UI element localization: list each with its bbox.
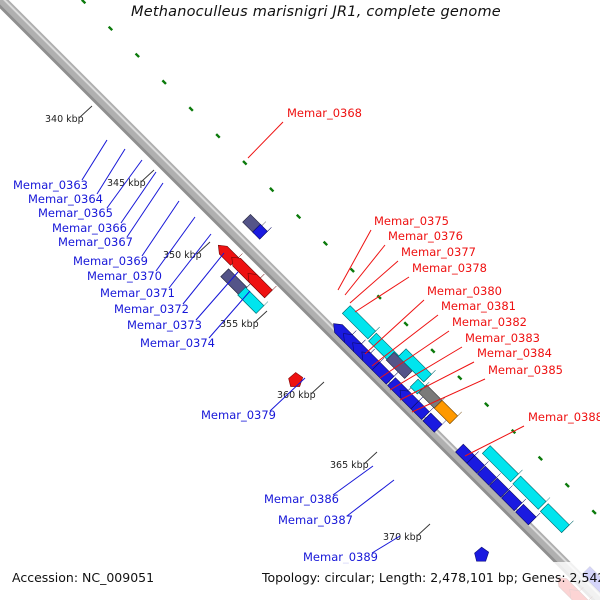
genome-map-viewer: 340 kbp345 kbp350 kbp355 kbp360 kbp365 k…	[0, 0, 600, 600]
gene-label-blue[interactable]: Memar_0363	[13, 178, 88, 192]
rna-marker	[431, 349, 435, 353]
rna-marker	[324, 242, 328, 246]
gene-label-blue[interactable]: Memar_0386	[264, 492, 339, 506]
genome-map-canvas[interactable]: 340 kbp345 kbp350 kbp355 kbp360 kbp365 k…	[0, 0, 600, 600]
rna-marker	[539, 457, 543, 461]
rna-marker	[216, 134, 220, 138]
tick-leader	[311, 382, 324, 394]
tick-group: 340 kbp345 kbp350 kbp355 kbp360 kbp365 k…	[45, 106, 430, 543]
rna-marker	[270, 188, 274, 192]
tick-label: 345 kbp	[107, 178, 146, 189]
gene-label-blue[interactable]: Memar_0387	[278, 513, 353, 527]
gene-label-red[interactable]: Memar_0378	[412, 261, 487, 275]
accession-text: Accession: NC_009051	[12, 570, 154, 585]
page-title: Methanoculleus marisnigri JR1, complete …	[131, 4, 501, 20]
rna-marker	[162, 80, 166, 84]
gene-label-blue[interactable]: Memar_0374	[140, 336, 215, 350]
rna-marker	[243, 161, 247, 165]
gene-label-blue-leader	[347, 480, 394, 516]
gene-label-blue[interactable]: Memar_0373	[127, 318, 202, 332]
tick-label: 355 kbp	[220, 319, 259, 330]
rna-marker	[485, 403, 489, 407]
rna-marker	[351, 268, 355, 272]
rna-marker	[136, 54, 140, 58]
gene-face[interactable]	[540, 504, 569, 533]
gene-label-red-leader	[350, 261, 398, 303]
tick-leader	[79, 106, 92, 118]
gene-label-red[interactable]: Memar_0376	[388, 229, 463, 243]
rna-marker	[592, 510, 596, 514]
gene-label-red-leader	[365, 300, 424, 354]
gene-box[interactable]	[540, 504, 573, 533]
gene-label-red-leader	[248, 122, 283, 158]
gene-label-red-leader	[355, 277, 409, 312]
gene-label-red[interactable]: Memar_0385	[488, 363, 563, 377]
gene-label-blue[interactable]: Memar_0372	[114, 302, 189, 316]
gene-label-red[interactable]: Memar_0381	[441, 299, 516, 313]
gene-label-red[interactable]: Memar_0382	[452, 315, 527, 329]
tick-label: 365 kbp	[330, 460, 369, 471]
gene-label-blue-leader	[127, 183, 163, 237]
gene-label-blue-leader	[169, 234, 211, 288]
genome-stats-text: Topology: circular; Length: 2,478,101 bp…	[262, 570, 600, 585]
gene-label-blue[interactable]: Memar_0365	[38, 206, 113, 220]
rna-marker	[565, 483, 569, 487]
tick-leader	[364, 452, 377, 464]
gene-label-blue[interactable]: Memar_0371	[100, 286, 175, 300]
gene-label-red-group: Memar_0368Memar_0375Memar_0376Memar_0377…	[248, 106, 600, 456]
gene-label-blue[interactable]: Memar_0379	[201, 408, 276, 422]
gene-feature-0368[interactable]	[289, 373, 303, 387]
tick-leader	[417, 524, 430, 536]
gene-label-red-leader	[338, 230, 371, 290]
rna-marker	[109, 27, 113, 31]
gene-label-blue[interactable]: Memar_0367	[58, 235, 133, 249]
gene-label-red[interactable]: Memar_0388	[528, 410, 600, 424]
gene-label-blue[interactable]: Memar_0369	[73, 254, 148, 268]
gene-label-blue-leader	[82, 140, 107, 180]
gene-label-blue[interactable]: Memar_0364	[28, 192, 103, 206]
tick-label: 370 kbp	[383, 532, 422, 543]
rna-marker	[297, 215, 301, 219]
gene-feature-0379[interactable]	[475, 547, 489, 561]
rna-marker	[189, 107, 193, 111]
gene-label-red[interactable]: Memar_0377	[401, 245, 476, 259]
gene-label-red[interactable]: Memar_0375	[374, 214, 449, 228]
rna-marker	[82, 0, 86, 3]
tick-leader	[141, 170, 154, 182]
tick-label: 350 kbp	[163, 250, 202, 261]
gene-label-blue[interactable]: Memar_0370	[87, 269, 162, 283]
gene-label-blue[interactable]: Memar_0366	[52, 221, 127, 235]
tick-label: 340 kbp	[45, 114, 84, 125]
gene-label-red[interactable]: Memar_0368	[287, 106, 362, 120]
rna-marker	[404, 322, 408, 326]
gene-label-blue-leader	[142, 201, 179, 256]
gene-box[interactable]	[434, 400, 461, 423]
gene-label-red[interactable]: Memar_0384	[477, 346, 552, 360]
gene-label-red[interactable]: Memar_0383	[465, 331, 540, 345]
gene-label-red[interactable]: Memar_0380	[427, 284, 502, 298]
rna-marker	[458, 376, 462, 380]
